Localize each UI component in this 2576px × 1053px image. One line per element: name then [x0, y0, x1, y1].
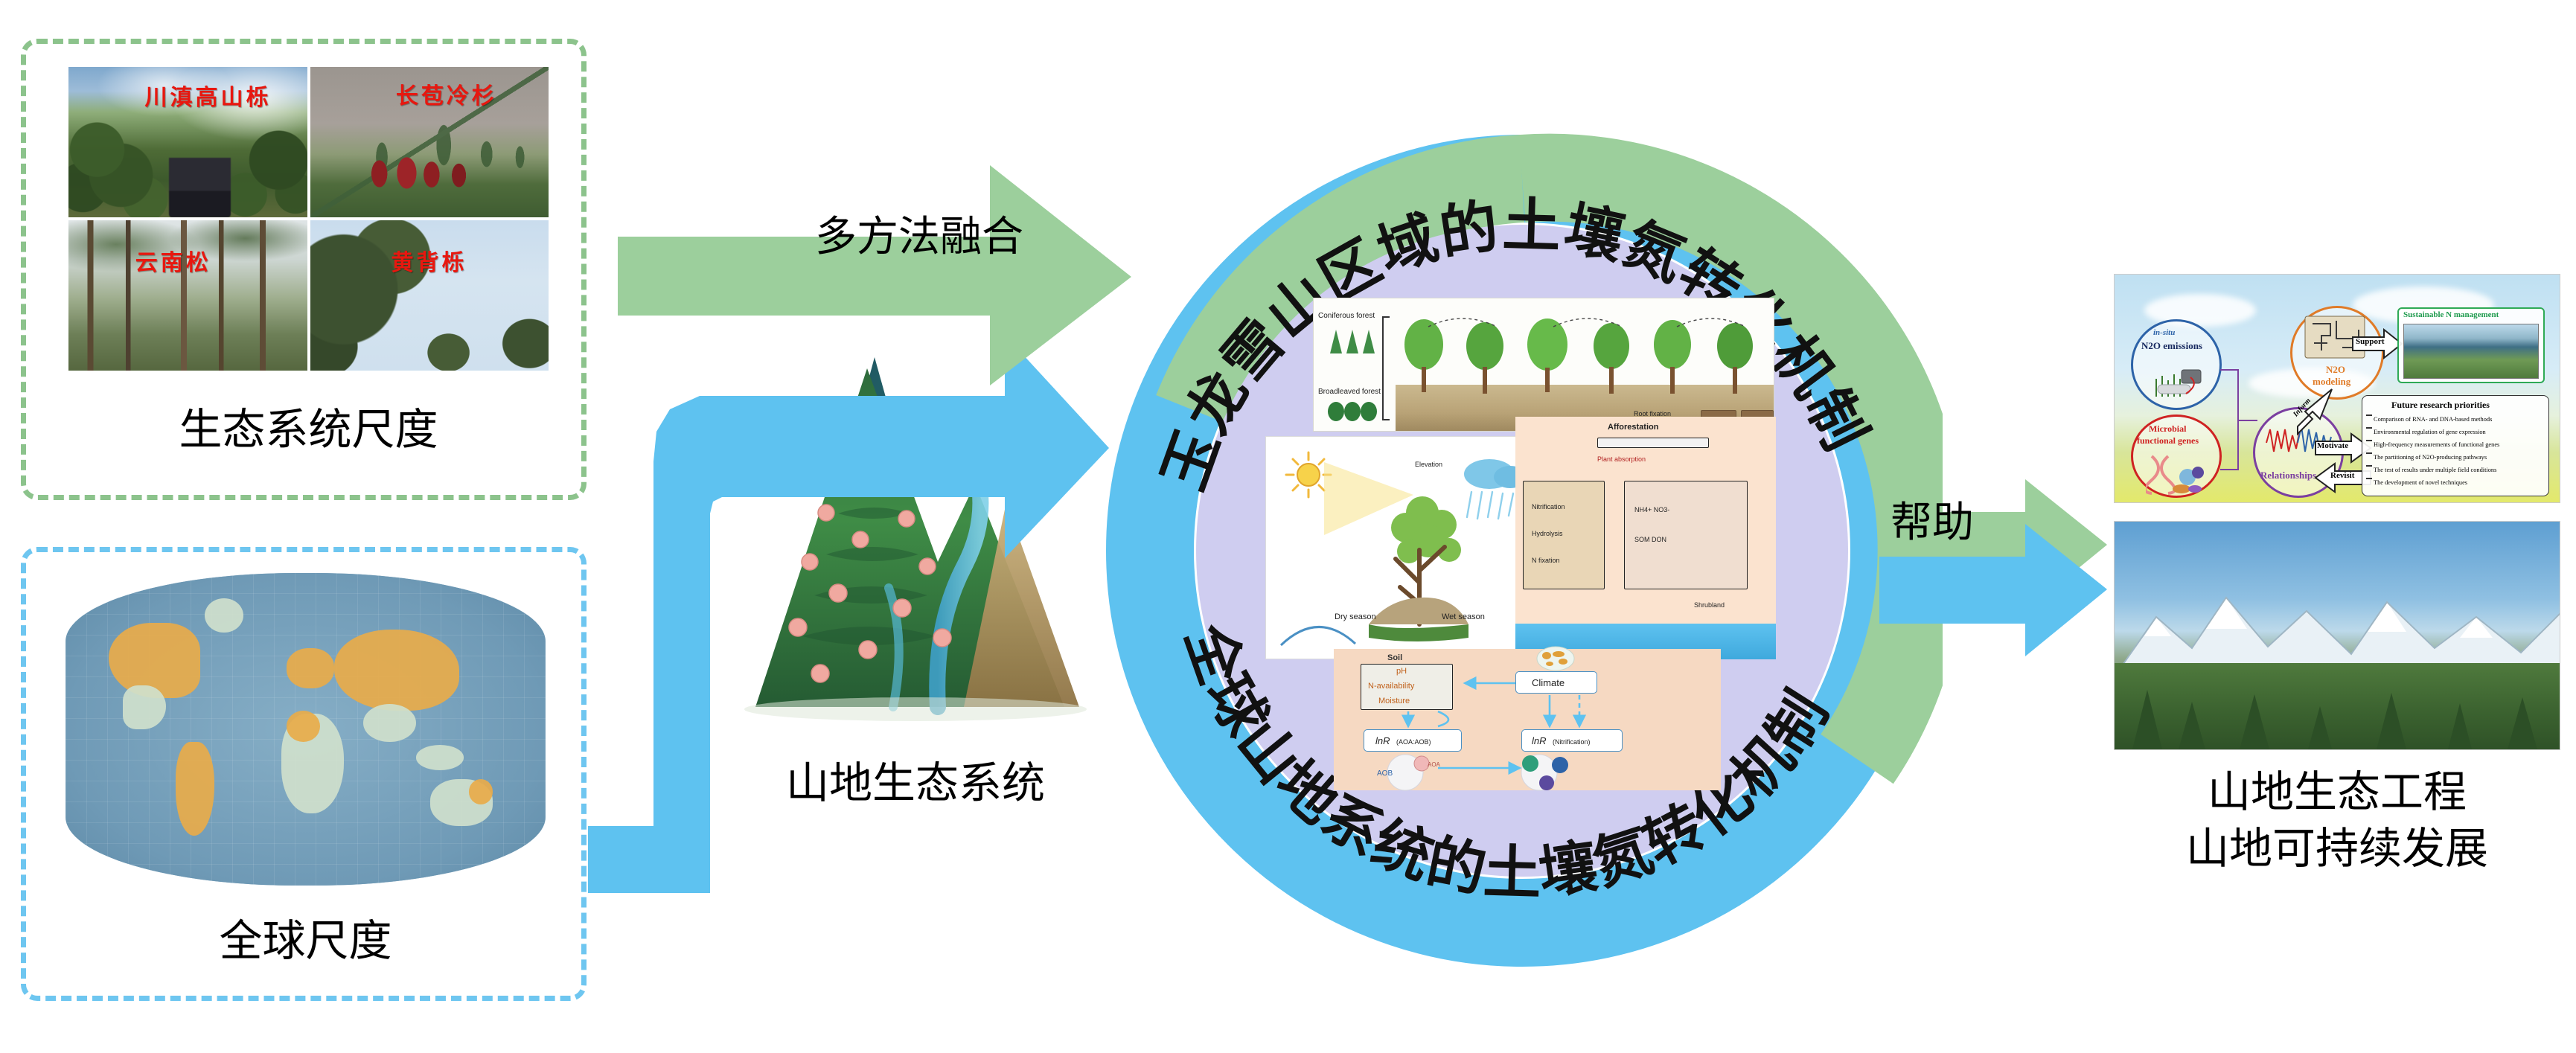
center-schematic: Coniferous forest Broadleaved forest: [1265, 298, 1779, 796]
photo-label: 云南松: [135, 244, 211, 277]
affor-bar: [1597, 438, 1709, 448]
bracket-connector: [2219, 356, 2263, 490]
node-n2o-modeling-line1: N2O: [2326, 364, 2345, 376]
microbe-icons: AOB AOA: [1372, 752, 1596, 792]
landmass: [416, 745, 464, 770]
node-n2o-emissions-line1: in-situ: [2153, 328, 2175, 337]
node-relationships-label: Relationships: [2260, 470, 2316, 481]
afforestation-title: Afforestation: [1608, 423, 1658, 432]
ecosystem-photo-grid: 川滇高山栎 长苞冷杉 云南松 黄背栎: [68, 67, 549, 371]
elevation-axis-label: Elevation: [1415, 461, 1442, 468]
node-microbial-genes-line2: functional genes: [2137, 435, 2199, 447]
dna-icon: [2146, 452, 2210, 495]
motivate-label: Motivate: [2317, 441, 2348, 450]
hydrolysis-label: Hydrolysis: [1532, 530, 1563, 537]
afforestation-panel: Afforestation Plant absorption NH4+ NO3-…: [1515, 417, 1776, 659]
support-label: Support: [2356, 337, 2385, 346]
mineralization-curve: [1278, 612, 1360, 650]
landmass: [205, 598, 243, 633]
forest-strip-panel: Coniferous forest Broadleaved forest: [1313, 298, 1774, 432]
photo-chuandian-oak: 川滇高山栎: [68, 67, 307, 217]
priority-item: The test of results under multiple field…: [2374, 467, 2496, 473]
fusion-arrow-label: 多方法融合: [759, 214, 1079, 261]
photo-label: 川滇高山栎: [145, 79, 272, 112]
photo-yunnan-pine: 云南松: [68, 220, 307, 371]
sustainable-n-title: Sustainable N management: [2403, 310, 2499, 319]
shrubland-label: Shrubland: [1694, 601, 1725, 609]
legend-bracket: [1382, 316, 1390, 420]
outcome-caption-line2: 山地可持续发展: [2114, 825, 2560, 873]
research-framework-panel: in-situ N2O emissions Microbial function…: [2114, 274, 2560, 503]
nh4-no3-label: NH4+ NO3-: [1634, 506, 1669, 513]
priority-bullets: [2366, 415, 2372, 489]
soil-block-right: [1624, 481, 1748, 589]
graphical-abstract-canvas: 川滇高山栎 长苞冷杉 云南松 黄背栎 生态系统尺度: [0, 0, 2576, 1053]
global-scale-caption: 全球尺度: [65, 917, 546, 965]
priority-item: The partitioning of N2O-producing pathwa…: [2374, 454, 2487, 461]
help-arrow-label: 帮助: [1891, 500, 2054, 547]
ecosystem-scale-caption: 生态系统尺度: [68, 406, 549, 454]
som-don-label: SOM DON: [1634, 536, 1666, 543]
nitrification-label: Nitrification: [1532, 503, 1565, 511]
landmass: [287, 711, 320, 742]
red-raincoat-figures: [367, 154, 491, 193]
svg-text:AOA: AOA: [1428, 761, 1441, 768]
node-microbial-genes-line1: Microbial: [2149, 423, 2186, 435]
landmass: [469, 779, 493, 804]
driver-response-panel: Soil pH N-availability Moisture Climate …: [1334, 649, 1721, 790]
foreground-trees: [2115, 660, 2560, 749]
plant-absorption-label: Plant absorption: [1597, 455, 1646, 463]
priorities-title: Future research priorities: [2391, 400, 2490, 411]
photo-yellowback-oak: 黄背栎: [310, 220, 549, 371]
legend-broadleaved: Broadleaved forest: [1318, 388, 1381, 396]
mountain-landscape-photo: [2114, 521, 2560, 750]
sustainable-n-photo: [2403, 324, 2539, 379]
legend-broadleaf-icons: [1321, 398, 1379, 428]
landmass: [363, 704, 416, 741]
revisit-label: Revisit: [2330, 471, 2354, 480]
nfixation-label: N fixation: [1532, 557, 1560, 564]
priority-item: High-frequency measurements of functiona…: [2374, 441, 2499, 448]
photo-label: 黄背栎: [391, 244, 467, 277]
photo-label: 长苞冷杉: [396, 77, 497, 110]
tree-row: [1396, 312, 1775, 394]
node-n2o-emissions-line2: N2O emissions: [2141, 340, 2202, 352]
landmass: [334, 630, 459, 711]
landmass: [287, 648, 335, 689]
priority-item: The development of novel techniques: [2374, 479, 2467, 486]
priority-item: Comparison of RNA- and DNA-based methods: [2374, 416, 2492, 423]
priority-item: Environmental regulation of gene express…: [2374, 429, 2486, 435]
wet-season-label: Wet season: [1442, 612, 1485, 621]
fusion-arrow-green: [618, 149, 1183, 394]
world-map-image: [65, 573, 546, 886]
outcome-caption-line1: 山地生态工程: [2114, 768, 2560, 816]
legend-conifer-icons: [1321, 324, 1379, 356]
photo-fir: 长苞冷杉: [310, 67, 549, 217]
chamber-icon: [2150, 358, 2205, 401]
svg-text:AOB: AOB: [1377, 769, 1393, 778]
legend-coniferous: Coniferous forest: [1318, 312, 1375, 320]
